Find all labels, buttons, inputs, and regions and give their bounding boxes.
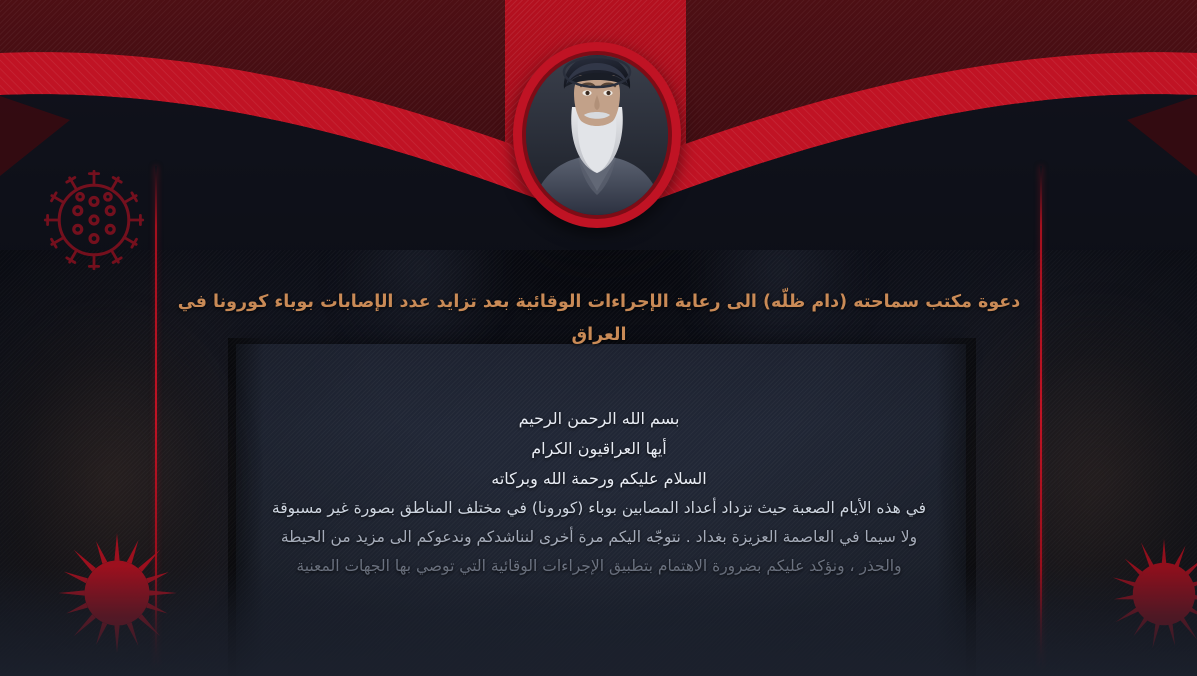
statement-body: بسم الله الرحمن الرحيم أيها العراقيون ال…	[168, 404, 1030, 581]
poster-canvas: دعوة مكتب سماحته (دام ظلّه) الى رعاية ال…	[0, 0, 1197, 676]
statement-line: أيها العراقيون الكرام	[168, 434, 1030, 464]
statement-line: والحذر ، ونؤكد عليكم بضرورة الاهتمام بتط…	[168, 552, 1030, 581]
statement-line: السلام عليكم ورحمة الله وبركاته	[168, 464, 1030, 494]
poster-text-content: دعوة مكتب سماحته (دام ظلّه) الى رعاية ال…	[0, 0, 1197, 676]
statement-line: في هذه الأيام الصعبة حيث تزداد أعداد الم…	[168, 494, 1030, 523]
headline-line-1: دعوة مكتب سماحته (دام ظلّه) الى رعاية ال…	[213, 292, 1020, 312]
statement-line: ولا سيما في العاصمة العزيزة بغداد . نتوج…	[168, 523, 1030, 552]
statement-line: بسم الله الرحمن الرحيم	[168, 404, 1030, 434]
headline: دعوة مكتب سماحته (دام ظلّه) الى رعاية ال…	[168, 286, 1030, 352]
